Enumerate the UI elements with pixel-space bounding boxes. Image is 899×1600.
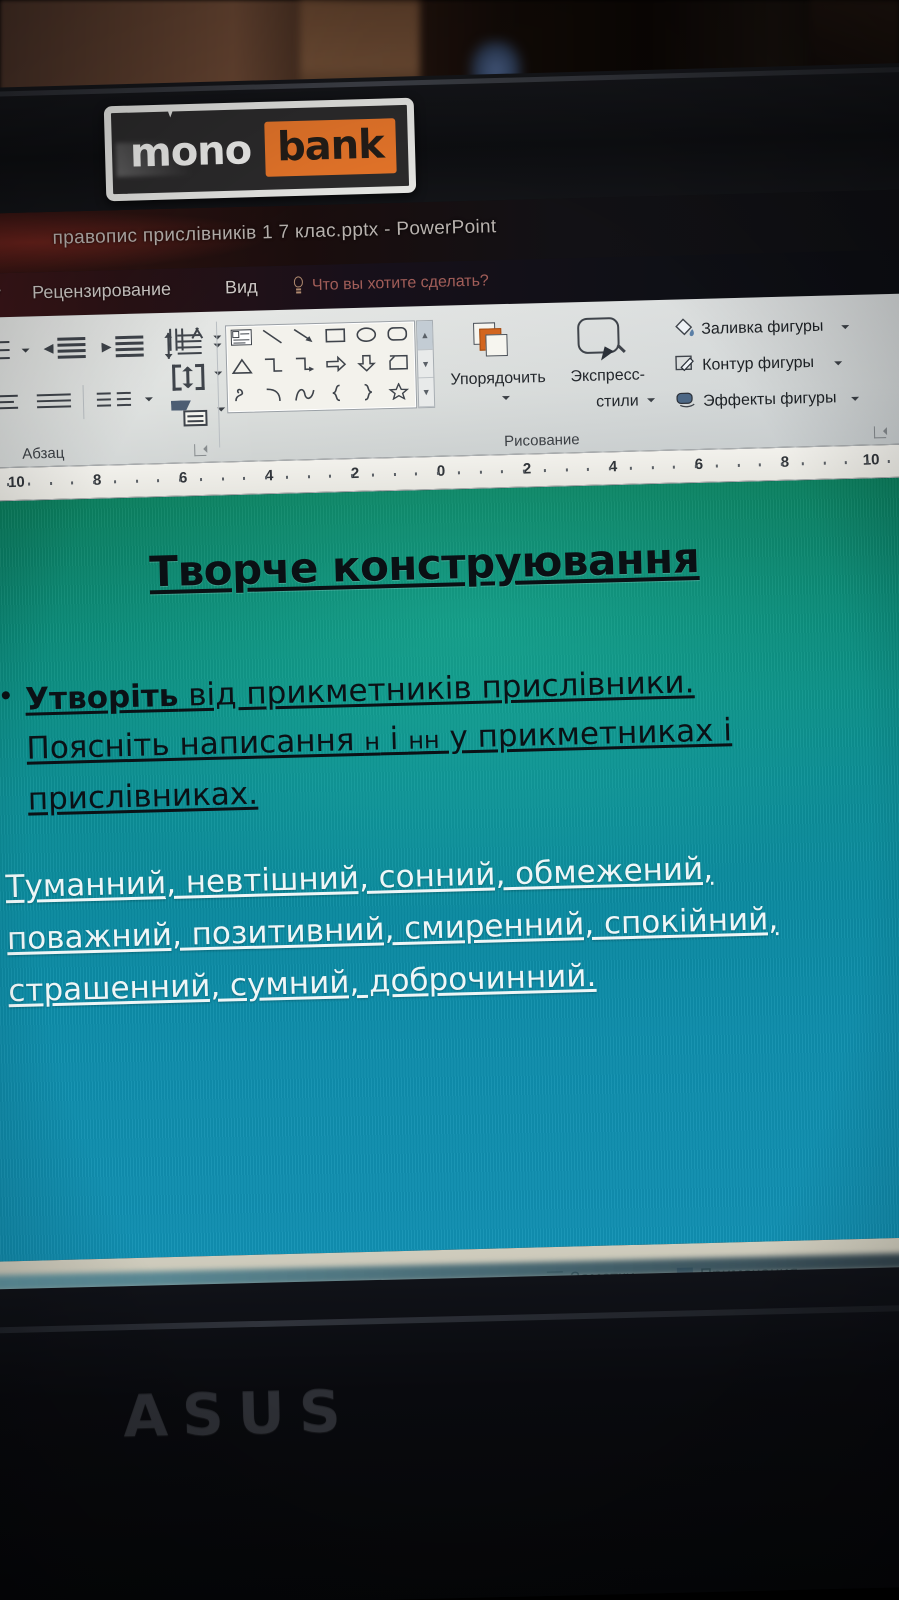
slide-word-list[interactable]: Туманний, невтішний, сонний, обмежений, … — [5, 839, 879, 1018]
increase-indent-icon[interactable] — [101, 336, 144, 359]
down-arrow-icon[interactable] — [356, 354, 381, 377]
ruler-tick — [71, 481, 73, 484]
ruler-tick — [221, 477, 223, 480]
monobank-sticker: mono bank — [104, 98, 417, 202]
laptop-screen: правопис прислівників 1 7 клас.pptx - Po… — [0, 188, 899, 1303]
photograph-of-laptop-screen: mono bank правопис прислівників 1 7 клас… — [0, 0, 899, 1600]
shape-outline-button[interactable]: Контур фигуры — [702, 354, 814, 375]
ruler-tick — [93, 481, 95, 484]
ruler-tick — [716, 465, 718, 468]
freeform-scribble-icon[interactable] — [231, 386, 256, 409]
bullet-line3: прислівниках. — [27, 776, 258, 818]
ruler-tick — [243, 477, 245, 480]
ruler-tick — [28, 483, 30, 486]
ruler-tick — [823, 462, 825, 465]
bullet-bold-lead: Утворіть — [25, 678, 179, 718]
arrange-dropdown-caret[interactable] — [502, 396, 510, 404]
elbow-arrow-connector-icon[interactable] — [293, 356, 318, 379]
bullet-paragraph[interactable]: Утворіть від прикметників прислівники. П… — [25, 657, 734, 824]
bullets-dropdown-caret[interactable] — [22, 348, 30, 356]
quick-styles-label-line1[interactable]: Экспресс- — [570, 366, 645, 386]
group-label-drawing: Рисование — [504, 431, 580, 450]
ribbon: Абзац — [0, 292, 899, 468]
ruler-tick — [802, 462, 804, 465]
curve-icon[interactable] — [294, 385, 319, 408]
shapes-scroll-down-button[interactable]: ▼ — [418, 350, 434, 379]
ruler-tick — [415, 472, 417, 475]
line-icon[interactable] — [261, 328, 286, 351]
align-text-icon[interactable] — [172, 364, 205, 391]
ruler-tick — [522, 470, 524, 473]
shape-effects-button[interactable]: Эффекты фигуры — [703, 389, 837, 410]
bullet-rest: від прикметників прислівники. — [178, 664, 695, 714]
columns-icon[interactable] — [97, 392, 131, 411]
tab-partial-left[interactable]: оу — [0, 283, 1, 304]
list-item: • Утворіть від прикметників прислівники.… — [0, 654, 874, 826]
convert-to-smartart-icon[interactable] — [171, 400, 208, 427]
ruler-tick — [565, 468, 567, 471]
star-icon[interactable] — [388, 382, 413, 405]
laptop-hinge — [0, 1304, 899, 1334]
shape-fill-button[interactable]: Заливка фигуры — [701, 318, 824, 339]
rounded-rectangle-icon[interactable] — [386, 325, 411, 348]
ruler-tick — [136, 480, 138, 483]
pentagon-folded-corner-icon[interactable] — [387, 353, 412, 376]
ruler-tick — [608, 467, 610, 470]
ruler-tick — [630, 467, 632, 470]
lightbulb-icon — [290, 276, 307, 296]
letter-n: н — [364, 727, 380, 755]
shapes-gallery-scrollbar[interactable]: ▲ ▼ ▼ — [416, 320, 435, 408]
ruler-tick — [694, 465, 696, 468]
shape-outline-caret[interactable] — [834, 361, 842, 369]
divider — [83, 385, 85, 419]
shapes-more-button[interactable]: ▼ — [418, 378, 434, 407]
bullet-line2-a: Поясніть написання — [26, 722, 365, 767]
shapes-scroll-up-button[interactable]: ▲ — [417, 321, 433, 350]
oval-icon[interactable] — [355, 326, 380, 349]
rectangle-icon[interactable] — [324, 326, 349, 349]
quick-styles-caret[interactable] — [647, 398, 655, 406]
ruler-tick — [501, 470, 503, 473]
ruler-tick — [780, 463, 782, 466]
ruler-tick — [393, 473, 395, 476]
quick-styles-icon[interactable] — [573, 315, 630, 368]
slide-title[interactable]: Творче конструювання — [149, 531, 790, 597]
columns-dropdown-caret[interactable] — [145, 397, 153, 405]
align-justify-icon[interactable] — [37, 393, 71, 412]
text-direction-icon[interactable] — [169, 328, 204, 351]
group-label-paragraph: Абзац — [22, 445, 65, 463]
ruler-tick — [264, 476, 266, 479]
right-brace-icon[interactable] — [357, 383, 382, 406]
monobank-bank-text: bank — [276, 122, 384, 171]
ruler-tick — [178, 479, 180, 482]
ruler-tick — [651, 466, 653, 469]
bullet-line2-c: у прикметниках і — [439, 712, 732, 756]
quick-styles-label-line2[interactable]: стили — [596, 393, 639, 412]
ruler-tick — [372, 474, 374, 477]
ruler-number: 10 — [8, 474, 25, 491]
ruler-tick — [114, 480, 116, 483]
ruler-tick — [7, 483, 9, 486]
textbox-icon[interactable] — [230, 329, 255, 352]
ruler-tick — [888, 460, 890, 463]
bullets-icon[interactable] — [0, 339, 12, 362]
ruler-tick — [866, 461, 868, 464]
right-arrow-icon[interactable] — [324, 355, 349, 378]
ruler-tick — [587, 468, 589, 471]
fill-bucket-icon[interactable] — [673, 317, 696, 338]
ruler-tick — [200, 478, 202, 481]
shapes-gallery[interactable] — [225, 320, 417, 413]
drawing-dialog-launcher[interactable] — [874, 426, 886, 438]
left-brace-icon[interactable] — [325, 384, 350, 407]
elbow-connector-icon[interactable] — [262, 357, 287, 380]
tab-review[interactable]: Рецензирование — [32, 279, 172, 304]
ruler-tick — [673, 466, 675, 469]
ruler-tick — [479, 471, 481, 474]
shape-effects-icon[interactable] — [675, 389, 698, 410]
ruler-tick — [436, 472, 438, 475]
ruler-tick — [458, 471, 460, 474]
ruler-tick — [307, 475, 309, 478]
tell-me-search-input[interactable]: Что вы хотите сделать? — [312, 272, 489, 295]
bullet-line2-b: і — [379, 721, 408, 758]
arrow-line-icon[interactable] — [292, 327, 317, 350]
tab-view[interactable]: Вид — [225, 277, 258, 299]
monobank-mono-text: mono — [121, 127, 251, 177]
arc-icon[interactable] — [263, 385, 288, 408]
arrange-icon[interactable] — [473, 322, 518, 367]
pen-outline-icon[interactable] — [674, 353, 697, 374]
ruler-tick — [350, 474, 352, 477]
ruler-tick — [737, 464, 739, 467]
arrange-button-label[interactable]: Упорядочить — [450, 369, 546, 389]
ruler-tick — [845, 461, 847, 464]
decrease-indent-icon[interactable] — [43, 337, 86, 360]
align-center-icon[interactable] — [0, 395, 21, 414]
ruler-number: 10 — [863, 451, 880, 468]
ruler-tick — [544, 469, 546, 472]
ruler-tick — [759, 463, 761, 466]
ruler-tick — [50, 482, 52, 485]
slide-bullet-list[interactable]: • Утворіть від прикметників прислівники.… — [0, 654, 874, 826]
laptop-keyboard-deck: ASUS — [0, 1266, 899, 1600]
ruler-tick — [329, 475, 331, 478]
shape-effects-caret[interactable] — [851, 397, 859, 405]
paragraph-dialog-launcher[interactable] — [194, 444, 206, 456]
triangle-icon[interactable] — [231, 358, 256, 381]
ruler-tick — [286, 476, 288, 479]
bullet-point-icon: • — [0, 676, 14, 825]
monobank-bank-badge: bank — [264, 118, 396, 177]
ruler-tick — [157, 479, 159, 482]
shape-fill-caret[interactable] — [841, 325, 849, 333]
letter-nn: нн — [408, 726, 440, 755]
asus-logo: ASUS — [122, 1377, 355, 1451]
slide-canvas[interactable]: Творче конструювання • Утворіть від прик… — [0, 476, 899, 1261]
